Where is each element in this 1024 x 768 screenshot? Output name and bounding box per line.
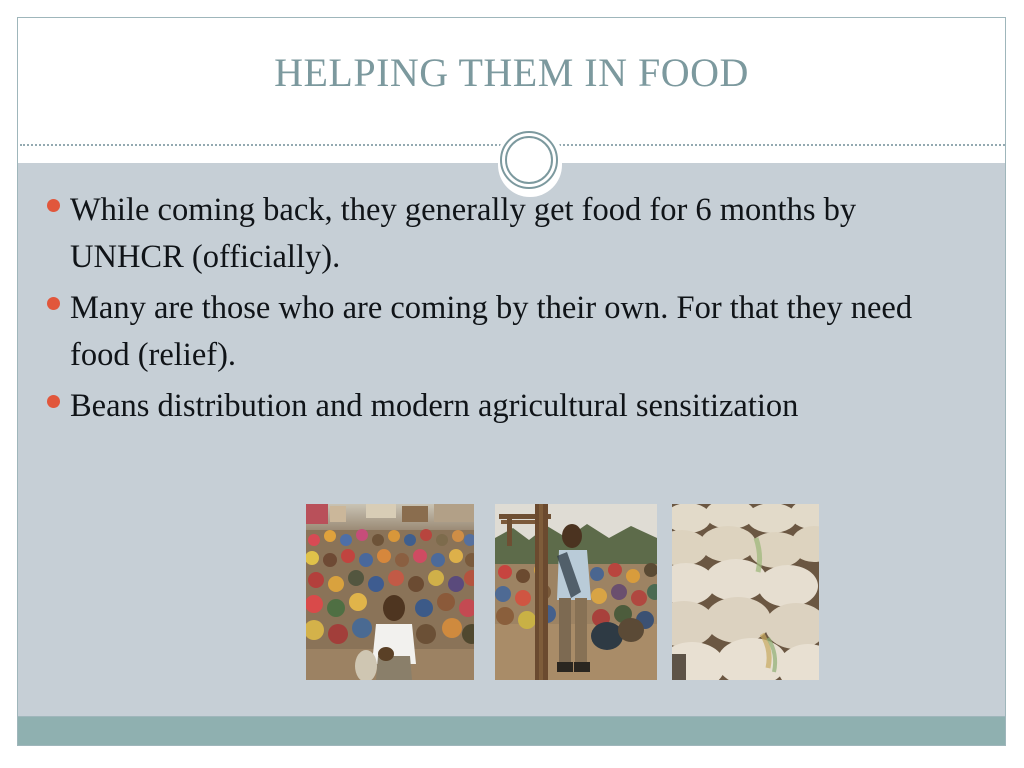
- page-title: HELPING THEM IN FOOD: [18, 50, 1005, 96]
- photo-man-standing-at-pole: [495, 504, 657, 680]
- photo-stacked-food-sacks: [672, 504, 819, 680]
- slide-body: While coming back, they generally get fo…: [18, 163, 1005, 716]
- list-item: While coming back, they generally get fo…: [36, 187, 986, 281]
- photo-crowd-seated: [306, 504, 474, 680]
- circle-ornament-icon: [494, 125, 566, 197]
- bullet-dot-icon: [36, 383, 70, 408]
- presentation-slide: HELPING THEM IN FOOD While coming back, …: [17, 17, 1006, 746]
- bullet-list: While coming back, they generally get fo…: [36, 187, 986, 434]
- bullet-text: Many are those who are coming by their o…: [70, 285, 938, 379]
- list-item: Many are those who are coming by their o…: [36, 285, 986, 379]
- bullet-text: Beans distribution and modern agricultur…: [70, 383, 938, 430]
- footer-bar: [18, 716, 1005, 746]
- list-item: Beans distribution and modern agricultur…: [36, 383, 986, 430]
- photo-strip: [306, 504, 826, 680]
- bullet-dot-icon: [36, 187, 70, 212]
- bullet-dot-icon: [36, 285, 70, 310]
- bullet-text: While coming back, they generally get fo…: [70, 187, 938, 281]
